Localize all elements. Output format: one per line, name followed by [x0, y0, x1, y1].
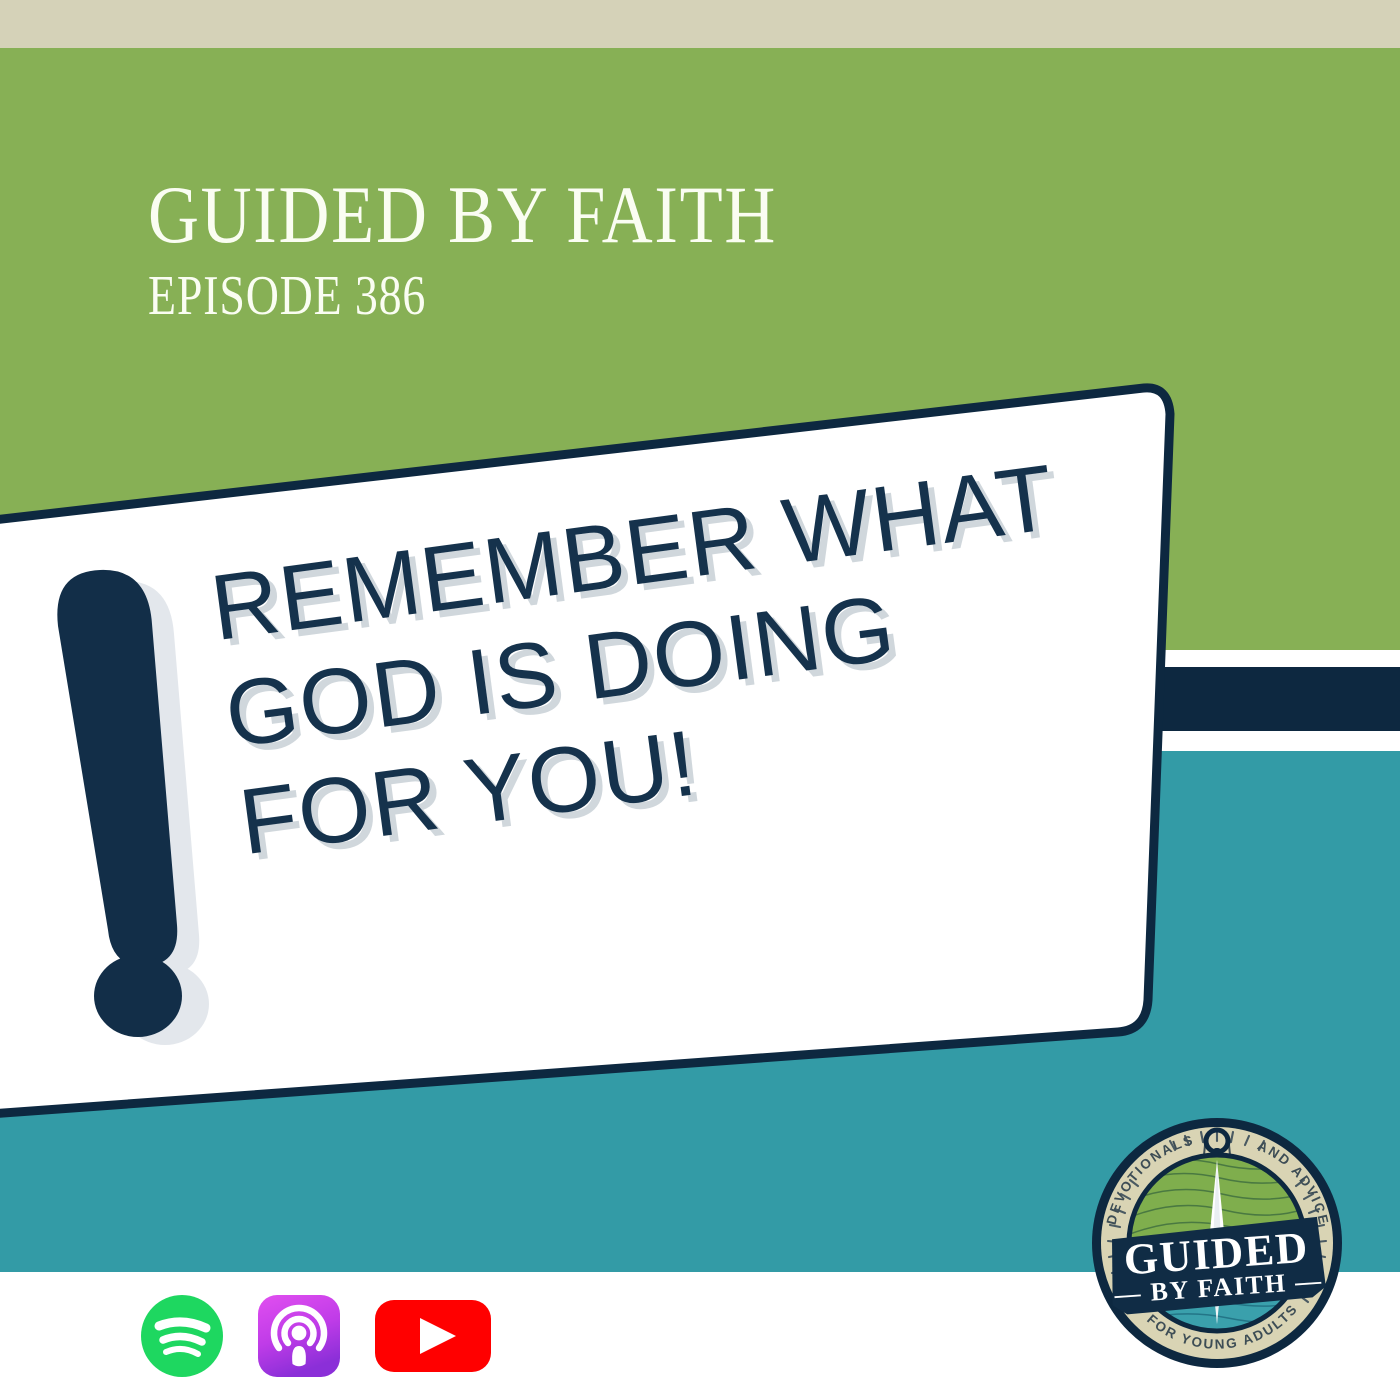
social-platform-icons: [140, 1294, 458, 1378]
episode-label: EPISODE 386: [148, 268, 968, 324]
youtube-icon[interactable]: [374, 1294, 458, 1378]
spotify-icon[interactable]: [140, 1294, 224, 1378]
brand-badge-logo[interactable]: DEVOTIONALS AND ADVICE FOR YOUNG ADULTS: [1088, 1112, 1346, 1370]
background-band-tan: [0, 0, 1400, 48]
exclamation-dot: [94, 955, 182, 1037]
apple-podcasts-icon[interactable]: [257, 1294, 341, 1378]
podcast-cover-artwork: GUIDED BY FAITH EPISODE 386 REMEMBER WHA…: [0, 0, 1400, 1400]
page-title: GUIDED BY FAITH: [148, 176, 1008, 254]
header-block: GUIDED BY FAITH EPISODE 386: [148, 176, 1148, 324]
